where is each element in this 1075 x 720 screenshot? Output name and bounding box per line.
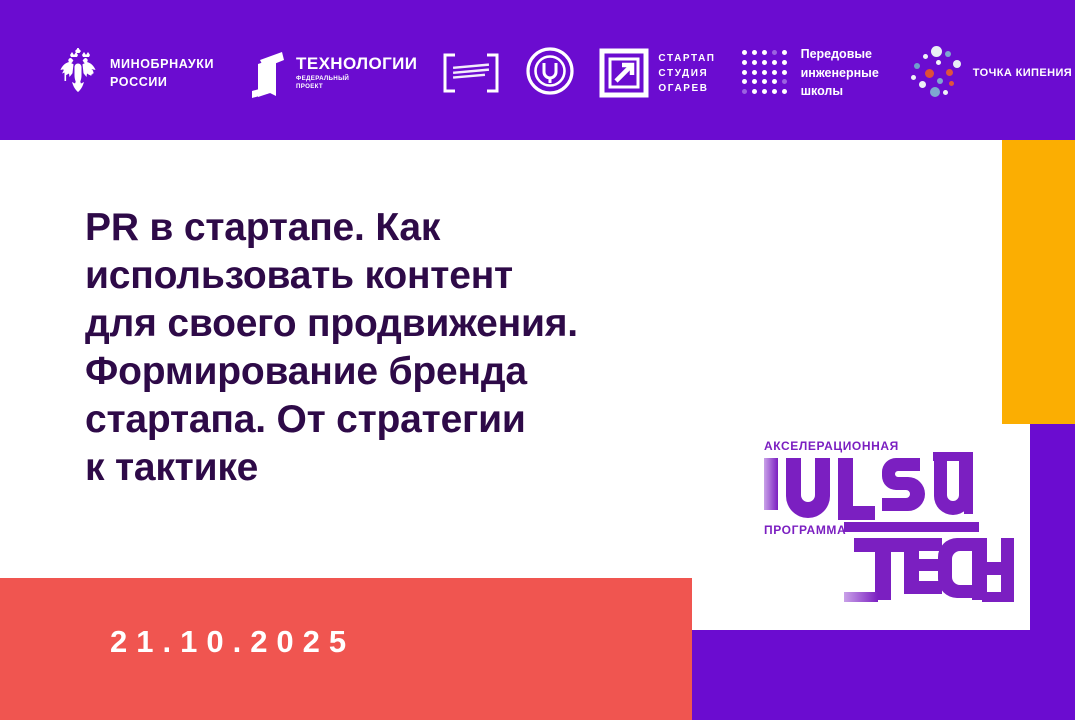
decorative-orange-block <box>1002 140 1075 424</box>
russian-double-headed-eagle-emblem-icon <box>58 48 98 98</box>
logo-circle-u <box>525 46 575 101</box>
logo-tochka-kipeniya: ТОЧКА КИПЕНИЯ <box>909 45 1072 101</box>
svg-text:ПРОГРАММА: ПРОГРАММА <box>764 523 846 537</box>
minobrnauki-line1: МИНОБРНАУКИ <box>110 57 214 71</box>
ss-line1: СТАРТАП <box>658 53 715 64</box>
dot-cluster-circle-mark-icon <box>909 45 965 101</box>
tekhnologii-title: ТЕХНОЛОГИИ <box>296 55 417 72</box>
ss-line3: ОГАРЕВ <box>658 83 708 94</box>
minobrnauki-line2: РОССИИ <box>110 75 168 89</box>
decorative-purple-right-block <box>1030 424 1075 720</box>
svg-text:АКСЕЛЕРАЦИОННАЯ: АКСЕЛЕРАЦИОННАЯ <box>764 439 899 453</box>
pis-line2: инженерные <box>801 66 879 80</box>
arrow-in-square-mark-icon <box>599 48 649 98</box>
tekhnologii-subtitle: ФЕДЕРАЛЬНЫЙ ПРОЕКТ <box>296 75 417 92</box>
title-line-5: стартапа. От стратегии <box>85 396 705 444</box>
logo-tochka-kipeniya-label: ТОЧКА КИПЕНИЯ <box>973 67 1072 79</box>
presentation-slide: МИНОБРНАУКИ РОССИИ ТЕХНОЛОГИИ <box>0 0 1075 720</box>
logo-platform-brackets <box>439 49 503 97</box>
logo-minobrnauki-label: МИНОБРНАУКИ РОССИИ <box>110 55 214 91</box>
title-line-1: PR в стартапе. Как <box>85 204 705 252</box>
logo-tekhnologii-text: ТЕХНОЛОГИИ ФЕДЕРАЛЬНЫЙ ПРОЕКТ <box>296 55 417 92</box>
logo-tekhnologii: ТЕХНОЛОГИИ ФЕДЕРАЛЬНЫЙ ПРОЕКТ <box>246 47 417 99</box>
decorative-purple-bottom-block <box>692 630 1030 720</box>
logo-startup-studio-label: СТАРТАП СТУДИЯ ОГАРЕВ <box>658 51 715 96</box>
tekhnologii-sub-line2: ПРОЕКТ <box>296 83 323 90</box>
ss-line2: СТУДИЯ <box>658 68 708 79</box>
circled-u-mark-icon <box>525 46 575 101</box>
ulsu-tech-logo-icon: АКСЕЛЕРАЦИОННАЯ ПРОГРАММА <box>758 434 1014 620</box>
pis-line3: школы <box>801 84 843 98</box>
title-line-2: использовать контент <box>85 252 705 300</box>
page-title: PR в стартапе. Как использовать контент … <box>85 204 705 492</box>
logo-startup-studio-ogarev: СТАРТАП СТУДИЯ ОГАРЕВ <box>599 48 715 98</box>
partner-logos-row: МИНОБРНАУКИ РОССИИ ТЕХНОЛОГИИ <box>0 40 1075 106</box>
stylized-numeral-one-mark-icon <box>246 47 290 99</box>
logo-peredovye-inzhenernye-shkoly: Передовые инженерные школы <box>742 45 879 101</box>
logo-pis-label: Передовые инженерные школы <box>801 45 879 101</box>
pis-line1: Передовые <box>801 47 872 61</box>
tekhnologii-sub-line1: ФЕДЕРАЛЬНЫЙ <box>296 75 349 82</box>
title-line-3: для своего продвижения. <box>85 300 705 348</box>
event-date: 21.10.2025 <box>110 624 355 660</box>
title-line-6: к тактике <box>85 444 705 492</box>
title-line-4: Формирование бренда <box>85 348 705 396</box>
brand-logo-panel: АКСЕЛЕРАЦИОННАЯ ПРОГРАММА <box>740 424 1030 630</box>
logo-minobrnauki: МИНОБРНАУКИ РОССИИ <box>58 48 214 98</box>
square-brackets-mark-icon <box>439 49 503 97</box>
dot-grid-mark-icon <box>742 50 790 96</box>
